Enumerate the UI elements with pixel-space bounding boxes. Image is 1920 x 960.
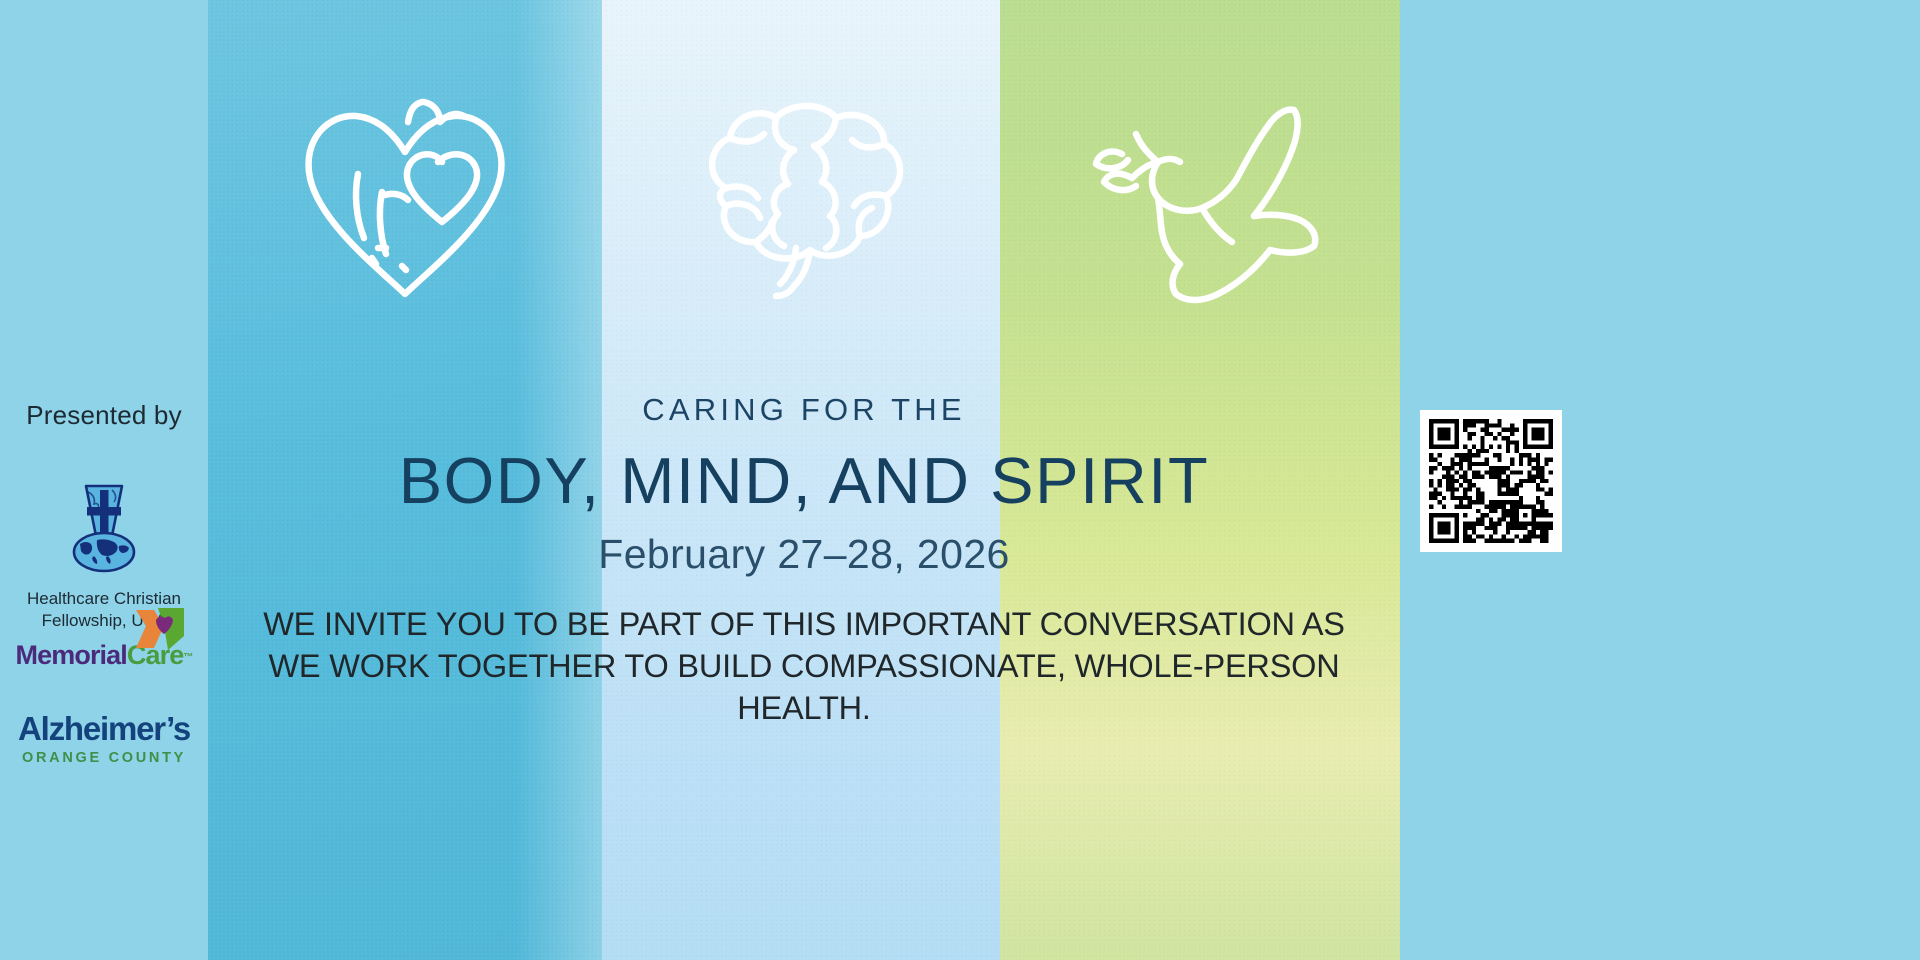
dove-icon — [1070, 96, 1330, 311]
cross-globe-icon — [64, 480, 144, 580]
right-strip — [1400, 0, 1920, 960]
gradient-artboard — [208, 0, 1400, 960]
panel-spirit — [1000, 0, 1400, 960]
qr-code-matrix — [1429, 419, 1553, 543]
heart-icon — [290, 96, 520, 311]
panel-body — [208, 0, 602, 960]
sponsors-sidebar: Presented by Healthcare Christian — [0, 0, 208, 960]
brain-icon — [684, 96, 919, 301]
dove-icon-slot — [1000, 96, 1400, 311]
brain-icon-slot — [602, 96, 1000, 301]
panel-mind — [602, 0, 1000, 960]
alzheimers-wordmark: Alzheimer’s — [18, 710, 190, 748]
alzheimers-subline: ORANGE COUNTY — [22, 750, 186, 766]
memorialcare-chevron-icon — [134, 606, 190, 652]
sponsor-alzheimers-orange-county: Alzheimer’s ORANGE COUNTY — [0, 710, 208, 766]
memorialcare-lockup: MemorialCare™ — [16, 640, 193, 671]
presented-by-label: Presented by — [0, 400, 208, 431]
event-qr-code[interactable] — [1420, 410, 1562, 552]
memorialcare-trademark: ™ — [183, 652, 192, 663]
heart-icon-slot — [208, 96, 602, 311]
memorialcare-word-memorial: Memorial — [16, 640, 127, 670]
sponsor-memorialcare: MemorialCare™ — [0, 640, 208, 671]
event-banner: CARING FOR THE BODY, MIND, AND SPIRIT Fe… — [0, 0, 1920, 960]
